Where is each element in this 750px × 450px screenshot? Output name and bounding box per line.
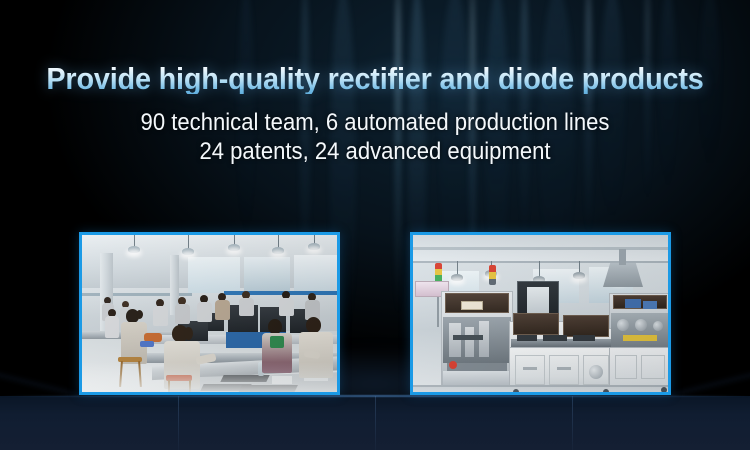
subtitle-line-2: 24 patents, 24 advanced equipment: [30, 137, 720, 166]
workshop-assembly-line-photo: [79, 232, 340, 395]
subtitle-line-1: 90 technical team, 6 automated productio…: [30, 108, 720, 137]
subtitle-block: 90 technical team, 6 automated productio…: [0, 108, 750, 166]
headline-block: Provide high-quality rectifier and diode…: [0, 63, 750, 166]
floor-surface: [0, 396, 750, 450]
floor-horizon-line: [0, 395, 750, 397]
page-title: Provide high-quality rectifier and diode…: [26, 63, 724, 94]
promo-banner: Provide high-quality rectifier and diode…: [0, 0, 750, 450]
automated-production-machinery-photo: [410, 232, 671, 395]
